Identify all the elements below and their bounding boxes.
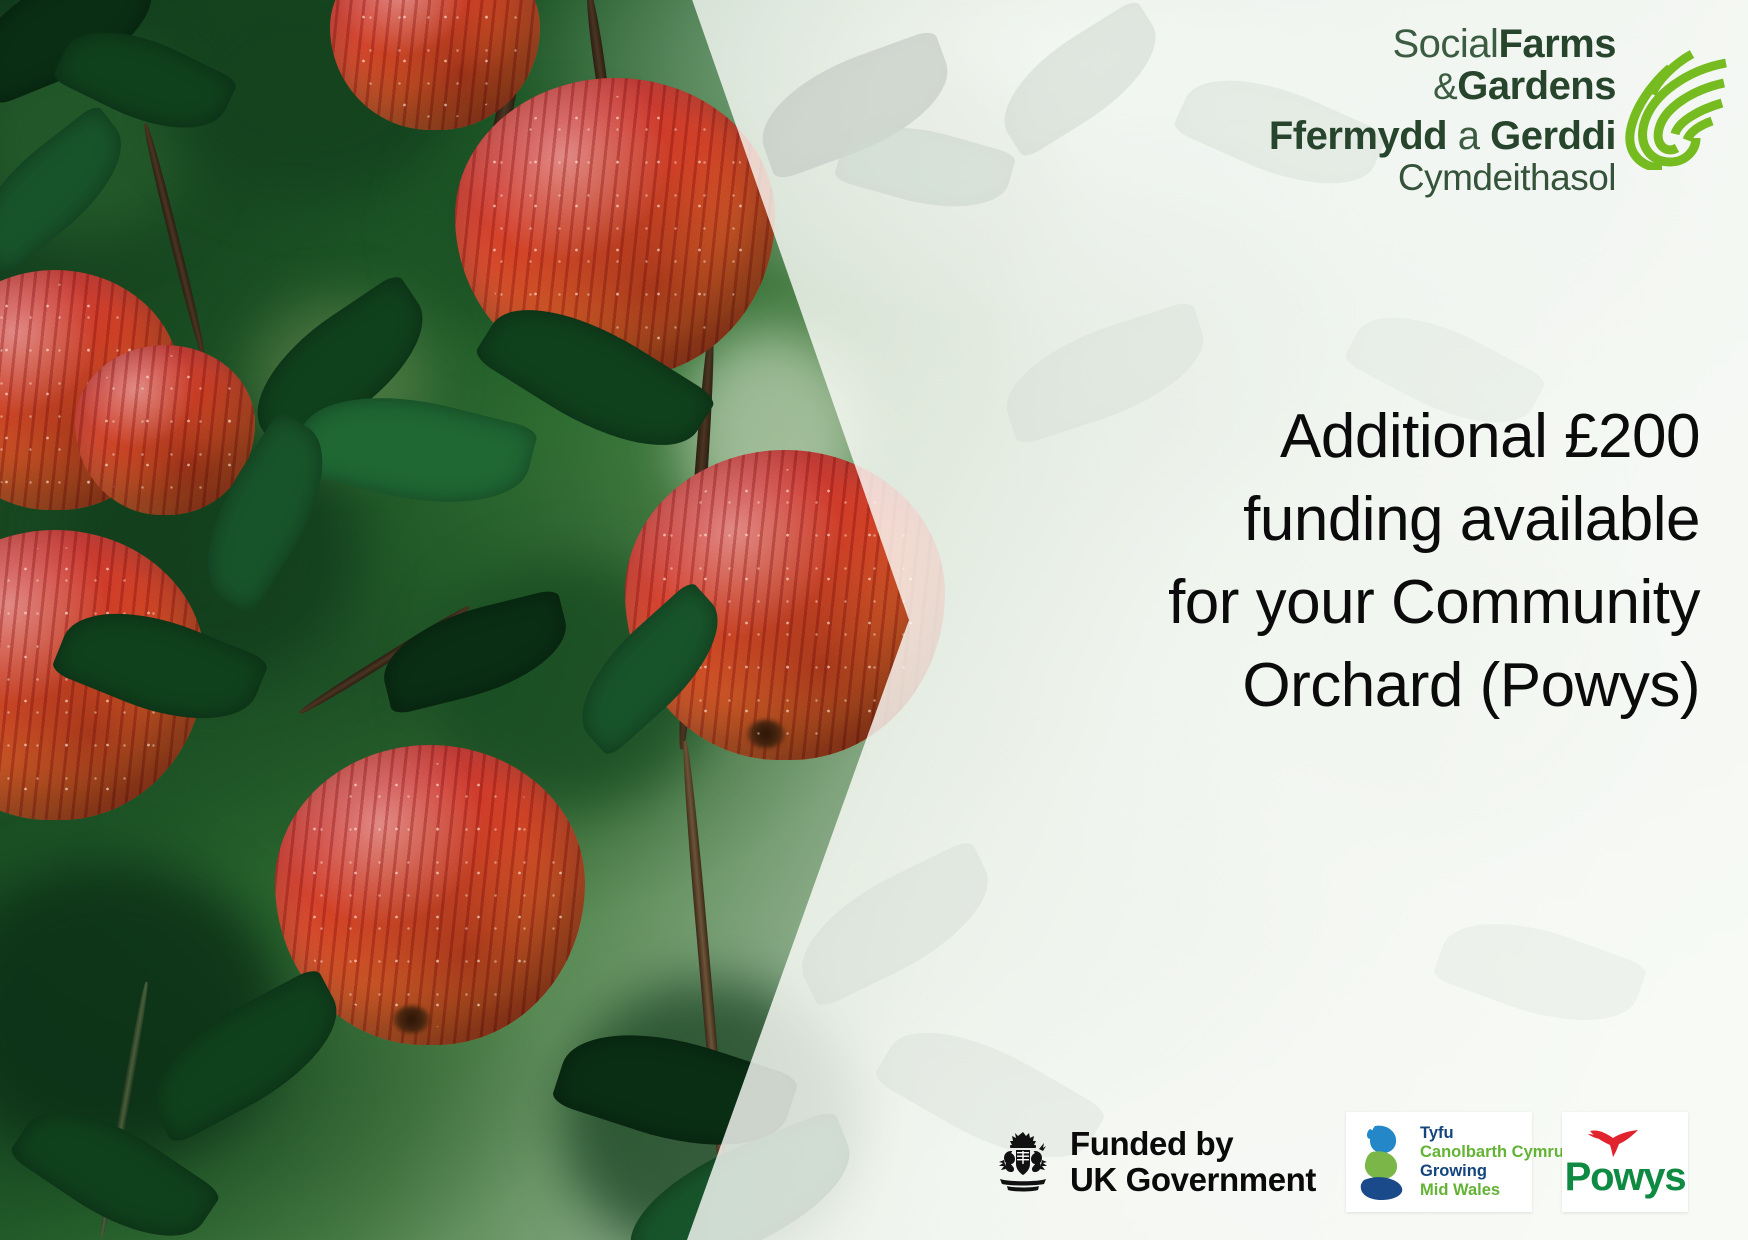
brand-line-4: Cymdeithasol bbox=[1269, 159, 1616, 196]
tyfu-three-leaf-icon bbox=[1358, 1124, 1410, 1200]
headline-line-4: Orchard (Powys) bbox=[1168, 644, 1700, 727]
powys-logo[interactable]: Powys bbox=[1562, 1112, 1688, 1212]
headline-line-3: for your Community bbox=[1168, 561, 1700, 644]
promotional-poster: SocialFarms &Gardens Ffermydd a Gerddi C… bbox=[0, 0, 1748, 1240]
brand-word-farms: Farms bbox=[1498, 22, 1616, 66]
footer-logo-row: Funded by UK Government Tyfu Canolbarth … bbox=[990, 1112, 1688, 1212]
brand-line-2: &Gardens bbox=[1269, 66, 1616, 106]
mid-wales-line: Mid Wales bbox=[1420, 1181, 1564, 1200]
funded-by-line: Funded by bbox=[1070, 1126, 1316, 1162]
tyfu-line: Tyfu bbox=[1420, 1124, 1564, 1143]
brand-ampersand: & bbox=[1433, 66, 1457, 107]
brand-word-gerddi: Gerddi bbox=[1490, 114, 1616, 158]
apple-fruit bbox=[75, 345, 255, 515]
tyfu-wordmark: Tyfu Canolbarth Cymru Growing Mid Wales bbox=[1420, 1124, 1564, 1201]
uk-government-funding-logo[interactable]: Funded by UK Government bbox=[990, 1126, 1316, 1197]
brand-word-gardens: Gardens bbox=[1457, 64, 1616, 108]
royal-coat-of-arms-icon bbox=[990, 1129, 1056, 1195]
green-leaf-spiral-icon bbox=[1622, 50, 1734, 170]
brand-word-ffermydd: Ffermydd bbox=[1269, 114, 1447, 158]
brand-word-social: Social bbox=[1392, 22, 1498, 66]
headline-line-2: funding available bbox=[1168, 478, 1700, 561]
brand-line-1: SocialFarms bbox=[1269, 24, 1616, 64]
red-kite-bird-icon bbox=[1586, 1128, 1646, 1158]
uk-government-wordmark: Funded by UK Government bbox=[1070, 1126, 1316, 1197]
growing-line: Growing bbox=[1420, 1162, 1564, 1181]
social-farms-and-gardens-logo[interactable]: SocialFarms &Gardens Ffermydd a Gerddi C… bbox=[1269, 24, 1734, 196]
canolbarth-cymru-line: Canolbarth Cymru bbox=[1420, 1143, 1564, 1162]
brand-line-3: Ffermydd a Gerddi bbox=[1269, 116, 1616, 156]
brand-word-a: a bbox=[1447, 114, 1490, 158]
headline: Additional £200 funding available for yo… bbox=[1168, 395, 1700, 727]
powys-wordmark: Powys bbox=[1565, 1158, 1686, 1196]
tyfu-canolbarth-cymru-logo[interactable]: Tyfu Canolbarth Cymru Growing Mid Wales bbox=[1346, 1112, 1532, 1212]
headline-line-1: Additional £200 bbox=[1168, 395, 1700, 478]
brand-wordmark: SocialFarms &Gardens Ffermydd a Gerddi C… bbox=[1269, 24, 1616, 196]
uk-government-line: UK Government bbox=[1070, 1162, 1316, 1198]
